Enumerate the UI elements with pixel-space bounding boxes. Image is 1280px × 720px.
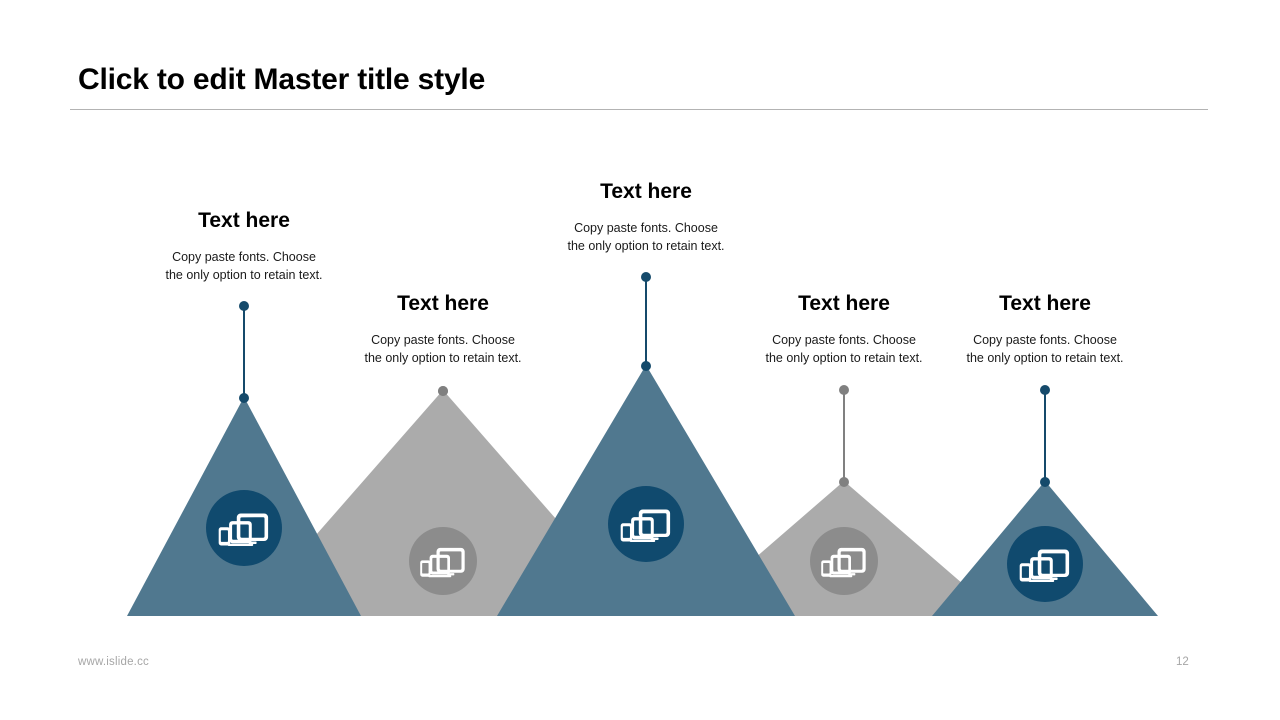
icon-circle-4 — [810, 527, 878, 595]
connector-dot-top-3 — [641, 272, 651, 282]
devices-icon — [420, 548, 464, 577]
triangle-2[interactable] — [245, 390, 641, 616]
item-heading: Text here — [744, 291, 944, 317]
connector-1 — [239, 301, 249, 403]
title-placeholder[interactable]: Click to edit Master title style — [78, 58, 1208, 102]
item-body-line2: the only option to retain text. — [744, 349, 944, 367]
connector-dot-top-5 — [1040, 385, 1050, 395]
connector-dot-top-1 — [239, 301, 249, 311]
item-body-line1: Copy paste fonts. Choose — [546, 219, 746, 237]
icon-circle-2 — [409, 527, 477, 595]
icon-badge-2[interactable] — [409, 527, 477, 595]
item-body-line1: Copy paste fonts. Choose — [945, 331, 1145, 349]
icon-badge-3[interactable] — [608, 486, 684, 562]
connector-dot-top-2 — [438, 386, 448, 396]
item-body-line1: Copy paste fonts. Choose — [144, 248, 344, 266]
connector-dot-top-4 — [839, 385, 849, 395]
title-divider — [70, 109, 1208, 110]
icon-badge-4[interactable] — [810, 527, 878, 595]
page-title: Click to edit Master title style — [78, 58, 1208, 102]
item-body-line2: the only option to retain text. — [546, 237, 746, 255]
connector-dot-bottom-1 — [239, 393, 249, 403]
item-heading: Text here — [343, 291, 543, 317]
devices-icon — [821, 548, 865, 577]
item-body-line1: Copy paste fonts. Choose — [343, 331, 543, 349]
icon-badge-group — [206, 486, 1083, 602]
text-group-1[interactable]: Text here Copy paste fonts. Choose the o… — [144, 208, 344, 284]
connector-dot-bottom-3 — [641, 361, 651, 371]
item-body-line2: the only option to retain text. — [945, 349, 1145, 367]
connector-4 — [839, 385, 849, 487]
connector-5 — [1040, 385, 1050, 487]
connector-dot-bottom-2 — [438, 386, 448, 396]
item-body-line1: Copy paste fonts. Choose — [744, 331, 944, 349]
item-heading: Text here — [546, 179, 746, 205]
connector-3 — [641, 272, 651, 371]
item-body-line2: the only option to retain text. — [144, 266, 344, 284]
icon-circle-3 — [608, 486, 684, 562]
devices-icon — [219, 513, 268, 546]
triangle-3[interactable] — [497, 365, 795, 616]
text-group-3[interactable]: Text here Copy paste fonts. Choose the o… — [546, 179, 746, 255]
icon-circle-1 — [206, 490, 282, 566]
item-body-line2: the only option to retain text. — [343, 349, 543, 367]
connector-dot-bottom-5 — [1040, 477, 1050, 487]
icon-badge-1[interactable] — [206, 490, 282, 566]
connector-2 — [438, 386, 448, 396]
text-group-2[interactable]: Text here Copy paste fonts. Choose the o… — [343, 291, 543, 367]
icon-badge-5[interactable] — [1007, 526, 1083, 602]
connector-dot-bottom-4 — [839, 477, 849, 487]
triangle-5[interactable] — [932, 481, 1158, 616]
triangle-4[interactable] — [688, 481, 1000, 616]
page-number: 12 — [1176, 656, 1208, 668]
triangle-group-gray — [245, 390, 1000, 616]
text-group-5[interactable]: Text here Copy paste fonts. Choose the o… — [945, 291, 1145, 367]
slide-canvas: Click to edit Master title style — [0, 0, 1280, 720]
triangle-1[interactable] — [127, 397, 361, 616]
devices-icon — [621, 509, 670, 542]
item-heading: Text here — [144, 208, 344, 234]
item-heading: Text here — [945, 291, 1145, 317]
triangle-group-blue — [127, 365, 1158, 616]
devices-icon — [1020, 549, 1069, 582]
text-group-4[interactable]: Text here Copy paste fonts. Choose the o… — [744, 291, 944, 367]
footer-url: www.islide.cc — [78, 656, 149, 668]
icon-circle-5 — [1007, 526, 1083, 602]
